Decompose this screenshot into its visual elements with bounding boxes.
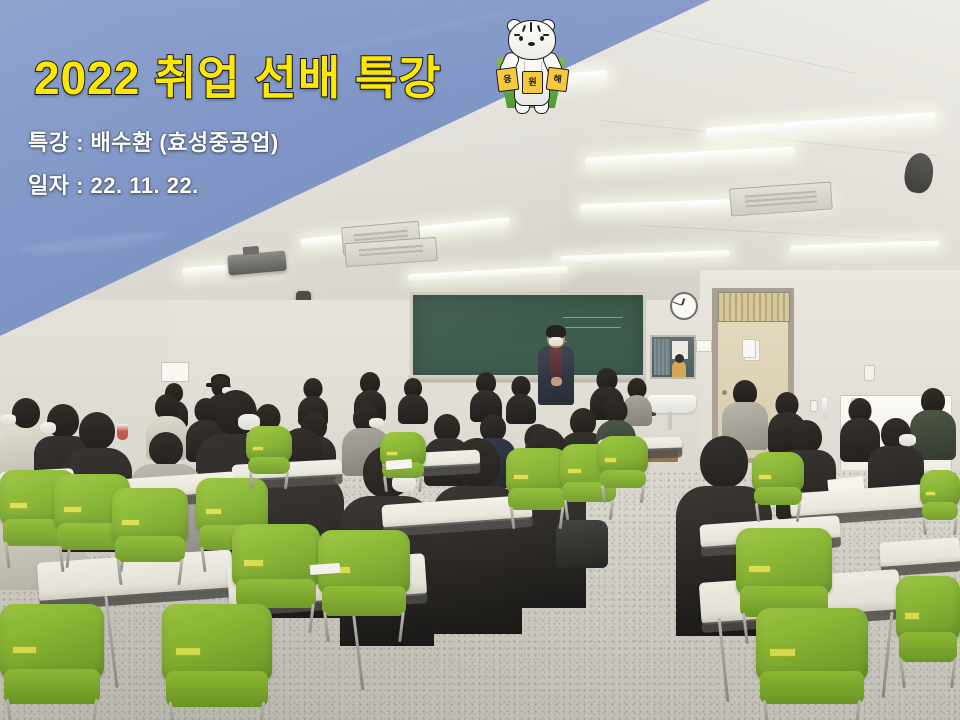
paper-sheet <box>386 459 413 470</box>
backpack <box>556 520 608 568</box>
tiger-mascot: 응 원 해 <box>486 18 576 114</box>
chair-back <box>756 608 868 680</box>
mascot-stripe <box>543 34 549 36</box>
mascot-sign-2: 원 <box>522 71 543 94</box>
chair[interactable] <box>896 576 960 676</box>
person-in-next-room <box>672 361 686 377</box>
chair-legs <box>325 612 402 642</box>
face-mask <box>0 414 16 425</box>
sink <box>648 395 696 413</box>
presenter-face-mask <box>549 337 563 346</box>
chair-back <box>598 436 648 474</box>
chair[interactable] <box>756 608 868 720</box>
desk <box>879 537 960 569</box>
face-mask <box>369 418 384 428</box>
chair-back <box>752 452 804 492</box>
wall-notice <box>161 362 189 382</box>
subtitle-date: 일자 : 22. 11. 22. <box>28 168 199 200</box>
chair-legs <box>602 485 644 503</box>
chair-legs <box>756 503 800 522</box>
chair[interactable] <box>598 436 648 496</box>
chair-legs <box>8 699 95 720</box>
chair-legs <box>118 559 182 585</box>
chair-legs <box>923 518 957 535</box>
mascot-eye <box>540 36 544 41</box>
chair-back <box>0 604 104 678</box>
chair[interactable] <box>162 604 272 720</box>
slide-image: 2022 취업 선배 특강 특강 : 배수환 (효성중공업) 일자 : 22. … <box>0 0 960 720</box>
chair[interactable] <box>752 452 804 514</box>
mascot-eye <box>519 36 523 41</box>
chair-back <box>162 604 272 681</box>
chair-legs <box>250 472 289 489</box>
wall-switch[interactable] <box>864 365 875 381</box>
face-mask <box>40 422 56 434</box>
chair[interactable] <box>246 426 292 482</box>
mascot-nose <box>528 42 535 46</box>
chair-legs <box>171 702 263 720</box>
face-mask <box>899 434 916 446</box>
mascot-sign-3: 해 <box>546 67 570 92</box>
presenter <box>536 327 576 405</box>
chair-legs <box>765 700 859 720</box>
chair-back <box>506 448 568 494</box>
wall-notice <box>742 339 756 358</box>
student-head <box>700 436 748 488</box>
chair-back <box>232 524 320 587</box>
chair-back <box>736 528 832 595</box>
presenter-shirt <box>550 347 562 377</box>
student-head <box>149 432 183 466</box>
chair[interactable] <box>506 448 568 520</box>
subtitle-speaker: 특강 : 배수환 (효성중공업) <box>28 125 279 157</box>
mascot-sign-1: 응 <box>496 67 520 92</box>
wall-switch[interactable] <box>810 400 818 412</box>
chair-back <box>318 530 410 594</box>
door-transom-window <box>718 292 790 322</box>
chair-back <box>896 576 960 640</box>
presenter-hands <box>551 377 562 386</box>
chair-legs <box>901 658 955 688</box>
mascot-stripe <box>530 22 532 32</box>
chair-back <box>112 488 188 543</box>
chair[interactable] <box>0 604 104 720</box>
chalk-mark <box>563 317 623 318</box>
curtain <box>654 339 670 375</box>
water-bottle <box>822 398 827 418</box>
chair[interactable] <box>318 530 410 630</box>
sink-pipe <box>668 412 672 430</box>
chair[interactable] <box>920 470 960 528</box>
student-head <box>790 420 822 454</box>
chair-legs <box>384 476 423 492</box>
chair[interactable] <box>112 488 188 574</box>
student-head <box>79 412 115 450</box>
paper-sheet <box>310 563 341 575</box>
wall-clock <box>670 292 698 320</box>
interior-window <box>650 335 696 379</box>
page-title: 2022 취업 선배 특강 <box>34 42 442 108</box>
mascot-head <box>508 20 556 60</box>
chair-legs <box>511 507 563 529</box>
wall-notice <box>696 340 712 352</box>
